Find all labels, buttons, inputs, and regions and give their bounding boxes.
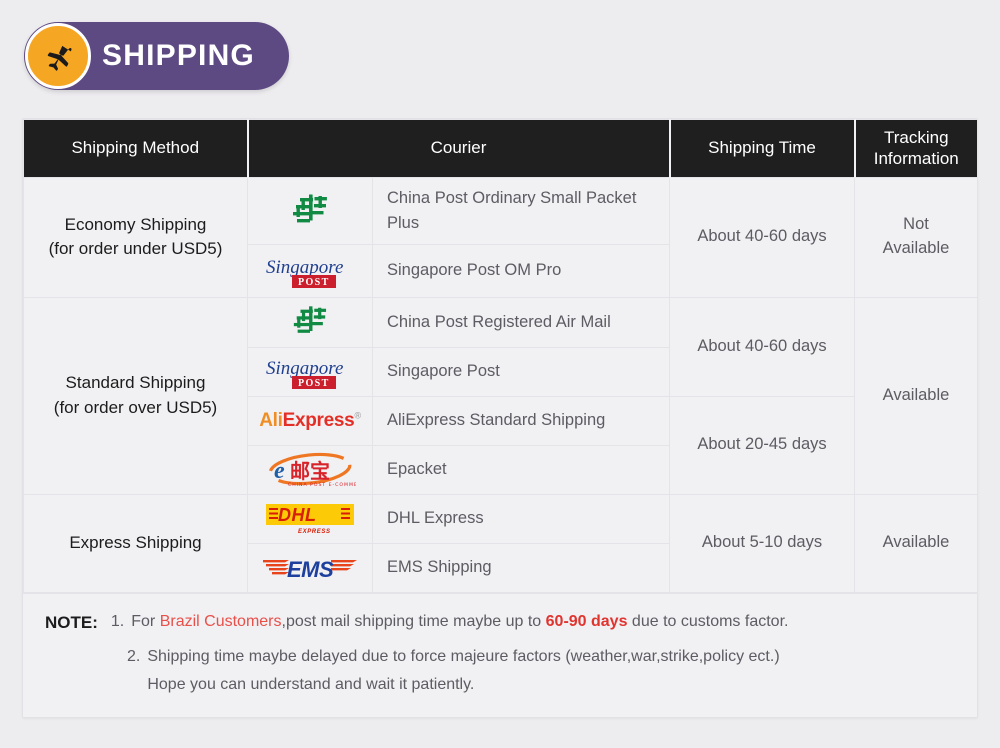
shipping-time-cell: About 40-60 days [670, 178, 855, 298]
shipping-table: Shipping Method Courier Shipping Time Tr… [23, 119, 978, 593]
china-post-logo [287, 191, 333, 231]
shipping-time-cell: About 40-60 days [670, 297, 855, 396]
shipping-time-cell: About 20-45 days [670, 396, 855, 494]
courier-name: DHL Express [373, 494, 670, 543]
shipping-table-container: Shipping Method Courier Shipping Time Tr… [22, 118, 978, 718]
aliexpress-logo: AliExpress® [259, 410, 361, 432]
svg-text:CHINA POST E-COMMERCE: CHINA POST E-COMMERCE [288, 482, 356, 488]
note-item-1-number: 1. [111, 610, 124, 636]
courier-name: EMS Shipping [373, 543, 670, 592]
note-title: NOTE: [45, 610, 98, 636]
svg-text:e: e [274, 458, 285, 484]
shipping-time-cell: About 5-10 days [670, 494, 855, 592]
airplane-icon [25, 23, 91, 89]
column-header-shipping-time: Shipping Time [670, 120, 855, 178]
courier-name: Singapore Post [373, 347, 670, 396]
tracking-line-2: Available [863, 237, 969, 261]
svg-text:Singapore: Singapore [266, 257, 343, 278]
courier-logo-cell [248, 178, 373, 245]
note-2-part-b: Hope you can understand and wait it pati… [147, 673, 779, 697]
note-line-2: 2. Shipping time maybe delayed due to fo… [127, 645, 955, 697]
column-header-tracking-information: Tracking Information [855, 120, 978, 178]
svg-text:EMS: EMS [287, 557, 334, 582]
courier-logo-cell: AliExpress® [248, 396, 373, 445]
table-row: Standard Shipping (for order over USD5) [24, 297, 978, 347]
courier-logo-cell: DHL EXPRESS [248, 494, 373, 543]
svg-text:邮宝: 邮宝 [290, 459, 330, 483]
singapore-post-logo: Singapore POST [262, 251, 358, 291]
shipping-header-badge: SHIPPING [24, 22, 289, 90]
note-1-part-a: For [131, 613, 159, 630]
tracking-cell-standard: Available [855, 297, 978, 494]
svg-text:POST: POST [298, 378, 330, 389]
dhl-logo: DHL EXPRESS [262, 500, 358, 538]
courier-name: AliExpress Standard Shipping [373, 396, 670, 445]
table-row: Express Shipping DHL [24, 494, 978, 543]
tracking-line-1: Not [863, 213, 969, 237]
note-1-part-c: due to customs factor. [627, 613, 788, 630]
method-sub: (for order over USD5) [32, 396, 239, 420]
courier-name: China Post Registered Air Mail [373, 297, 670, 347]
courier-name: China Post Ordinary Small Packet Plus [373, 178, 670, 245]
method-name: Economy Shipping [32, 213, 239, 237]
courier-logo-cell [248, 297, 373, 347]
tracking-cell-economy: Not Available [855, 178, 978, 298]
note-2-part-a: Shipping time maybe delayed due to force… [147, 648, 779, 665]
column-header-courier: Courier [248, 120, 670, 178]
badge-label: SHIPPING [102, 41, 255, 71]
courier-logo-cell: EMS [248, 543, 373, 592]
note-section: NOTE: 1. For Brazil Customers,post mail … [23, 593, 977, 718]
svg-text:Singapore: Singapore [266, 358, 343, 379]
ems-logo: EMS [261, 552, 359, 584]
svg-text:EXPRESS: EXPRESS [298, 529, 331, 535]
method-name: Express Shipping [32, 531, 239, 555]
epacket-logo: e 邮宝 CHINA POST E-COMMERCE [264, 449, 356, 491]
method-name: Standard Shipping [32, 371, 239, 395]
method-cell-express: Express Shipping [24, 494, 248, 592]
courier-name: Singapore Post OM Pro [373, 244, 670, 297]
courier-logo-cell: Singapore POST [248, 347, 373, 396]
courier-name: Epacket [373, 445, 670, 494]
courier-logo-cell: e 邮宝 CHINA POST E-COMMERCE [248, 445, 373, 494]
singapore-post-logo: Singapore POST [262, 352, 358, 392]
svg-text:POST: POST [298, 277, 330, 288]
method-cell-standard: Standard Shipping (for order over USD5) [24, 297, 248, 494]
column-header-shipping-method: Shipping Method [24, 120, 248, 178]
note-item-2-text: Shipping time maybe delayed due to force… [147, 645, 779, 697]
tracking-cell-express: Available [855, 494, 978, 592]
china-post-logo [287, 303, 333, 341]
note-1-part-b: ,post mail shipping time maybe up to [282, 613, 546, 630]
note-line-1: NOTE: 1. For Brazil Customers,post mail … [45, 610, 955, 636]
note-item-2-number: 2. [127, 645, 140, 697]
method-sub: (for order under USD5) [32, 237, 239, 261]
table-row: Economy Shipping (for order under USD5) [24, 178, 978, 245]
note-item-1-text: For Brazil Customers,post mail shipping … [131, 610, 788, 636]
note-1-highlight-brazil: Brazil Customers [160, 613, 282, 630]
note-1-highlight-days: 60-90 days [546, 613, 628, 630]
courier-logo-cell: Singapore POST [248, 244, 373, 297]
svg-text:DHL: DHL [278, 505, 317, 525]
table-header-row: Shipping Method Courier Shipping Time Tr… [24, 120, 978, 178]
badge-pill: SHIPPING [24, 22, 289, 90]
method-cell-economy: Economy Shipping (for order under USD5) [24, 178, 248, 298]
